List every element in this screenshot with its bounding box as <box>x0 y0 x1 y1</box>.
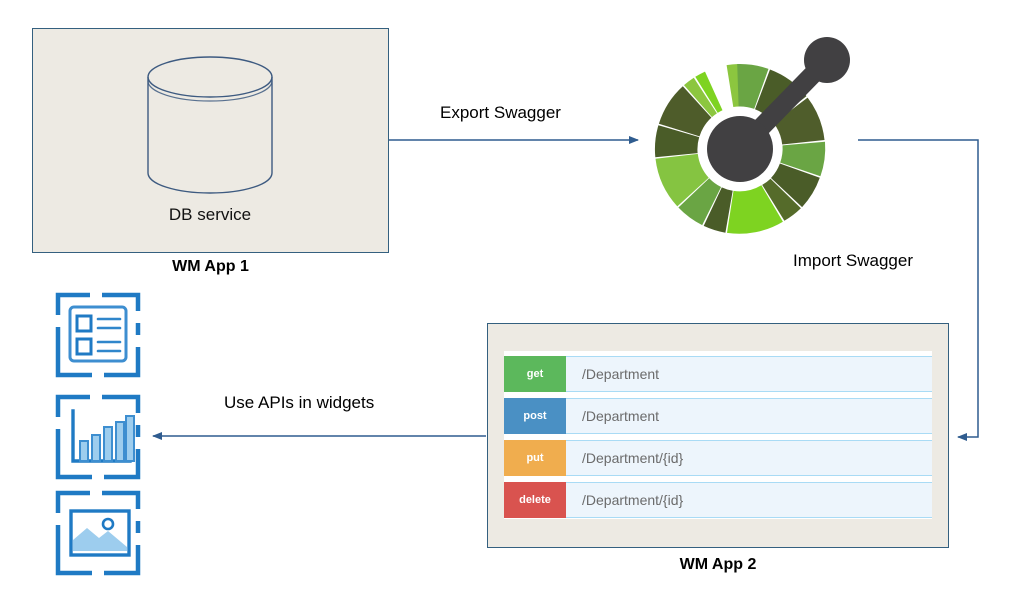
table-row[interactable]: delete /Department/{id} <box>504 482 932 518</box>
endpoint-path: /Department/{id} <box>566 483 932 517</box>
endpoint-path: /Department <box>566 357 932 391</box>
method-badge-delete: delete <box>504 482 566 518</box>
db-service-label: DB service <box>110 205 310 225</box>
wm-app2-caption: WM App 2 <box>487 556 949 574</box>
image-widget-icon <box>52 487 152 579</box>
table-row[interactable]: put /Department/{id} <box>504 440 932 476</box>
diagram-canvas: DB service WM App 1 <box>0 0 1011 590</box>
method-badge-put: put <box>504 440 566 476</box>
wm-app1-caption: WM App 1 <box>32 258 389 276</box>
table-row[interactable]: post /Department <box>504 398 932 434</box>
table-row[interactable]: get /Department <box>504 356 932 392</box>
edge-label-import-swagger: Import Swagger <box>793 251 913 271</box>
edge-label-export-swagger: Export Swagger <box>440 103 561 123</box>
method-badge-post: post <box>504 398 566 434</box>
endpoint-path: /Department <box>566 399 932 433</box>
method-badge-get: get <box>504 356 566 392</box>
list-widget-icon <box>52 289 152 381</box>
api-endpoint-table: get /Department post /Department put /De… <box>504 351 932 519</box>
edge-label-use-apis: Use APIs in widgets <box>224 393 374 413</box>
endpoint-path: /Department/{id} <box>566 441 932 475</box>
database-cylinder-icon <box>145 55 275 195</box>
chart-widget-icon <box>52 391 152 483</box>
swagger-logo-icon <box>640 34 850 244</box>
